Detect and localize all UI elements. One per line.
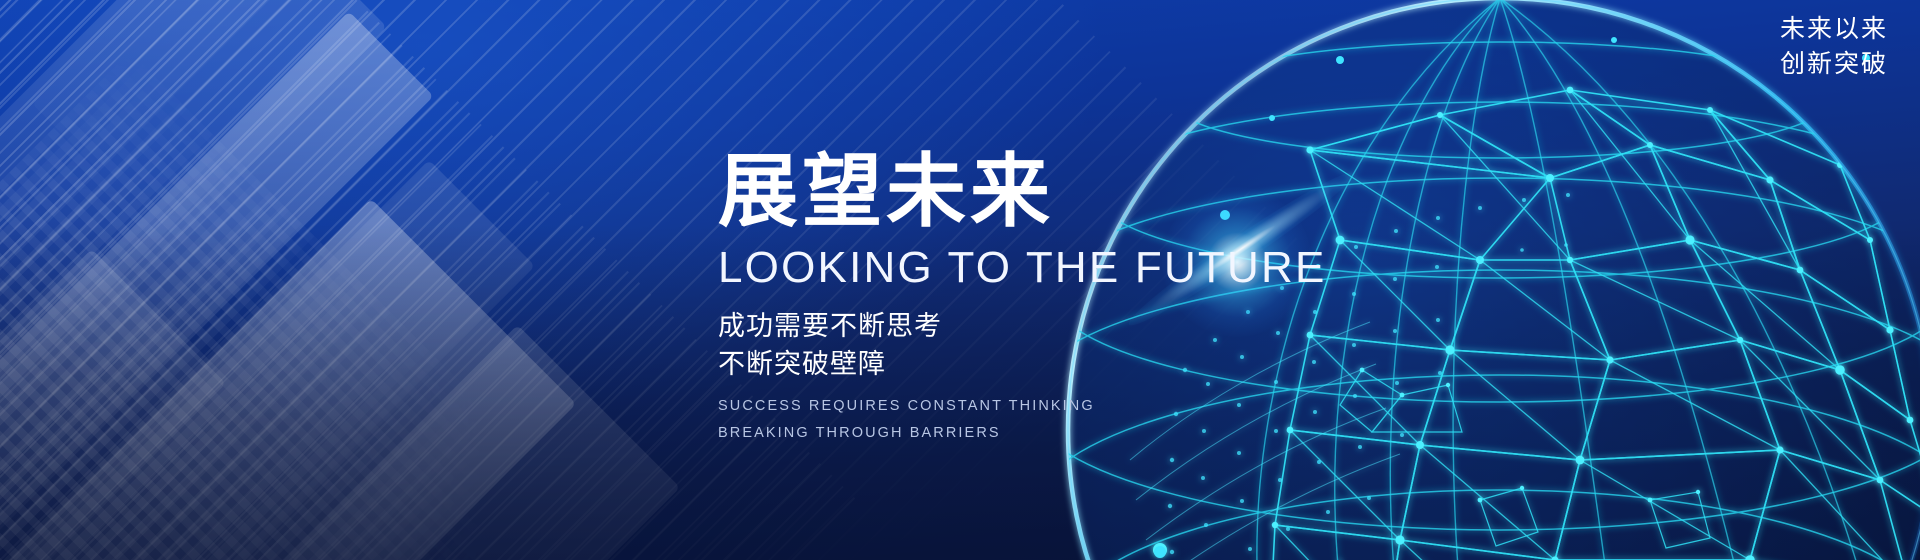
page-subtitle-en: LOOKING TO THE FUTURE [718, 243, 1327, 293]
promo-banner: 未来以来 创新突破 展望未来 LOOKING TO THE FUTURE 成功需… [0, 0, 1920, 560]
tagline-cn-line1: 成功需要不断思考 [718, 307, 1327, 345]
tagline-en-line1: SUCCESS REQUIRES CONSTANT THINKING [718, 393, 1327, 420]
tagline-en-line2: BREAKING THROUGH BARRIERS [718, 420, 1327, 447]
corner-tagline-line2: 创新突破 [1780, 47, 1888, 82]
corner-tagline: 未来以来 创新突破 [1780, 12, 1888, 81]
tagline-cn: 成功需要不断思考 不断突破壁障 [718, 307, 1327, 384]
corner-tagline-line1: 未来以来 [1780, 12, 1888, 47]
headline-block: 展望未来 LOOKING TO THE FUTURE 成功需要不断思考 不断突破… [718, 150, 1327, 447]
tagline-en: SUCCESS REQUIRES CONSTANT THINKING BREAK… [718, 393, 1327, 447]
page-title: 展望未来 [718, 150, 1327, 235]
tagline-cn-line2: 不断突破壁障 [718, 345, 1327, 383]
